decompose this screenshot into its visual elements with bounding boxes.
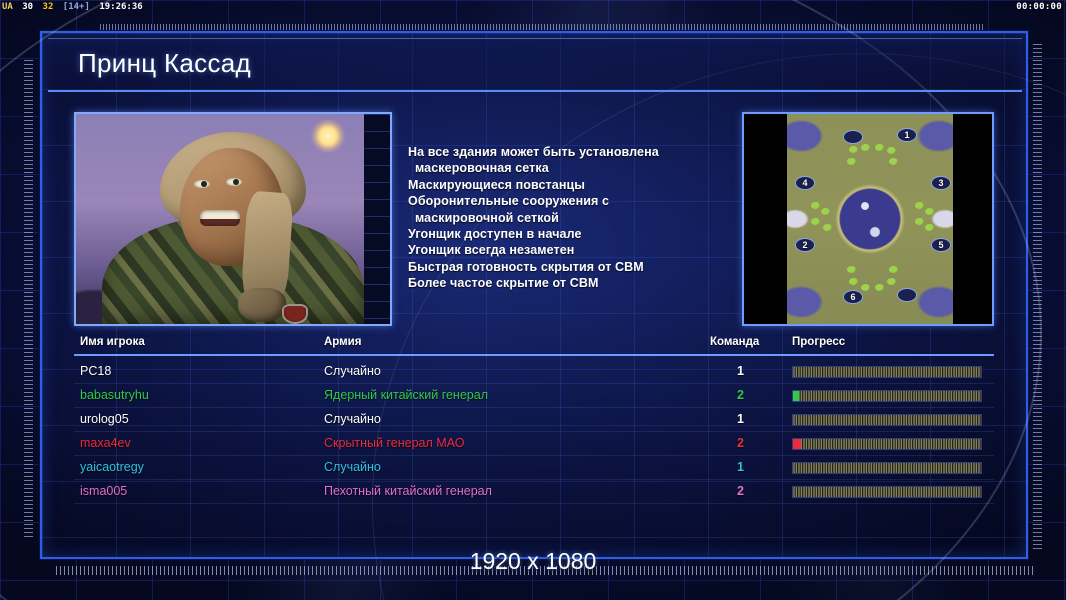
map-start-position: 2 (795, 238, 815, 252)
lobby-window: Принц Кассад На все здания может бы (40, 31, 1028, 559)
status-ua-label: UA (0, 0, 15, 14)
portrait-mouth (200, 210, 240, 226)
map-tree-icon (925, 208, 934, 215)
player-team: 2 (737, 484, 744, 498)
general-abilities-list: На все здания может быть установленамаск… (408, 144, 708, 292)
progress-ticks (793, 463, 981, 473)
ruler-left (24, 60, 33, 540)
ability-line: На все здания может быть установлена (408, 144, 708, 160)
player-name: maxa4ev (80, 436, 131, 450)
map-start-position: 3 (931, 176, 951, 190)
player-team: 2 (737, 436, 744, 450)
map-tree-icon (821, 208, 830, 215)
map-tree-icon (915, 218, 924, 225)
map-start-position (897, 288, 917, 302)
map-tree-icon (875, 144, 884, 151)
portrait-pupil-left (201, 181, 207, 187)
player-team: 2 (737, 388, 744, 402)
map-tree-icon (849, 146, 858, 153)
page-title: Принц Кассад (78, 48, 251, 79)
progress-fill (793, 391, 799, 401)
player-progress-bar (792, 486, 982, 498)
map-tree-icon (887, 147, 896, 154)
resolution-label: 1920 x 1080 (0, 548, 1066, 575)
portrait-cup (282, 304, 308, 324)
player-progress-bar (792, 390, 982, 402)
player-name: PC18 (80, 364, 111, 378)
player-name: yaicaotregy (80, 460, 144, 474)
column-header-team: Команда (710, 336, 759, 348)
player-team: 1 (737, 364, 744, 378)
table-header-row: Имя игрока Армия Команда Прогресс (74, 336, 994, 356)
status-clock: 19:26:36 (97, 0, 144, 14)
ability-line: Маскирующиеся повстанцы (408, 177, 708, 193)
player-name: urolog05 (80, 412, 129, 426)
progress-ticks (793, 439, 981, 449)
general-info-row: На все здания может быть установленамаск… (74, 112, 994, 328)
table-row[interactable]: urolog05Случайно1 (74, 408, 994, 432)
map-tree-icon (847, 158, 856, 165)
player-army: Случайно (324, 364, 381, 378)
map-start-position: 5 (931, 238, 951, 252)
portrait-canteen (238, 288, 286, 322)
ability-line: маскировочной сеткой (408, 210, 708, 226)
status-ping-2: 32 (41, 0, 56, 14)
map-preview-frame[interactable]: 143256 (742, 112, 994, 326)
ability-line: Угонщик доступен в начале (408, 226, 708, 242)
ruler-top (100, 24, 984, 30)
ability-line: Оборонительные сооружения с (408, 193, 708, 209)
player-name: isma005 (80, 484, 127, 498)
map-tree-icon (887, 278, 896, 285)
progress-ticks (793, 415, 981, 425)
ruler-right (1033, 44, 1042, 549)
player-army: Скрытный генерал МАО (324, 436, 464, 450)
top-status-bar: UA 30 32 [14+] 19:26:36 (0, 0, 1066, 14)
map-tree-icon (811, 202, 820, 209)
map-start-position: 6 (843, 290, 863, 304)
player-army: Случайно (324, 412, 381, 426)
map-tree-icon (861, 284, 870, 291)
player-team: 1 (737, 460, 744, 474)
ability-line: Более частое скрытие от СВМ (408, 275, 708, 291)
column-header-army: Армия (324, 336, 361, 348)
ability-line: Угонщик всегда незаметен (408, 242, 708, 258)
table-row[interactable]: maxa4evСкрытный генерал МАО2 (74, 432, 994, 456)
player-slot-table: Имя игрока Армия Команда Прогресс PC18Сл… (74, 336, 994, 506)
portrait-pupil-right (233, 179, 239, 185)
table-row[interactable]: babasutryhuЯдерный китайский генерал2 (74, 384, 994, 408)
map-tree-icon (925, 224, 934, 231)
progress-fill (793, 439, 801, 449)
map-tree-icon (823, 224, 832, 231)
portrait-letterbox-right (364, 114, 390, 324)
map-tree-icon (875, 284, 884, 291)
map-start-position (843, 130, 863, 144)
progress-ticks (793, 391, 981, 401)
map-tree-icon (915, 202, 924, 209)
map-start-position: 4 (795, 176, 815, 190)
table-row[interactable]: PC18Случайно1 (74, 360, 994, 384)
map-preview-image: 143256 (787, 114, 953, 324)
map-tree-icon (849, 278, 858, 285)
column-header-progress: Прогресс (792, 336, 845, 348)
progress-ticks (793, 487, 981, 497)
status-bracket: [14+] (61, 0, 92, 14)
map-start-position: 1 (897, 128, 917, 142)
player-army: Ядерный китайский генерал (324, 388, 488, 402)
window-title-bar: Принц Кассад (48, 38, 1022, 92)
player-army: Пехотный китайский генерал (324, 484, 492, 498)
player-name: babasutryhu (80, 388, 149, 402)
map-tree-icon (889, 158, 898, 165)
player-army: Случайно (324, 460, 381, 474)
table-row[interactable]: yaicaotregyСлучайно1 (74, 456, 994, 480)
column-header-player-name: Имя игрока (80, 336, 145, 348)
map-tree-icon (889, 266, 898, 273)
player-progress-bar (792, 438, 982, 450)
player-progress-bar (792, 414, 982, 426)
ability-line: Быстрая готовность скрытия от СВМ (408, 259, 708, 275)
table-row[interactable]: isma005Пехотный китайский генерал2 (74, 480, 994, 504)
player-progress-bar (792, 366, 982, 378)
status-ping-1: 30 (20, 0, 35, 14)
general-portrait-image (76, 114, 390, 324)
map-tree-icon (847, 266, 856, 273)
general-portrait-frame (74, 112, 392, 326)
progress-ticks (793, 367, 981, 377)
player-team: 1 (737, 412, 744, 426)
map-tree-icon (811, 218, 820, 225)
player-progress-bar (792, 462, 982, 474)
map-tree-icon (861, 144, 870, 151)
ability-line: маскеровочная сетка (408, 160, 708, 176)
